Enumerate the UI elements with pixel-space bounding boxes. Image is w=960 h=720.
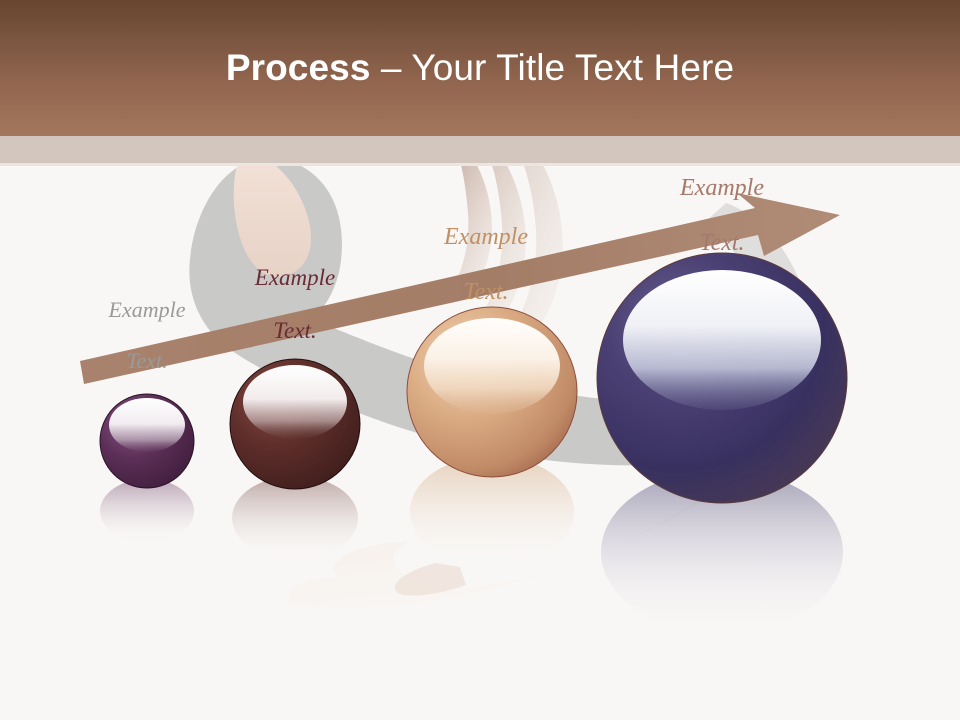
step-label-4-line2: Text. xyxy=(654,230,790,258)
sphere-4-highlight xyxy=(623,270,821,410)
page-title: Process – Your Title Text Here xyxy=(0,46,960,90)
sphere-1-reflection xyxy=(100,479,194,543)
title-banner-stripe-edge xyxy=(0,163,960,166)
step-label-2-line2: Text. xyxy=(232,318,358,345)
step-label-1: Example Text. xyxy=(88,271,206,399)
sphere-1-highlight xyxy=(109,398,185,452)
step-label-4-line1: Example xyxy=(654,175,790,203)
step-label-3-line2: Text. xyxy=(420,279,552,307)
step-label-1-line2: Text. xyxy=(88,348,206,374)
sphere-step-2[interactable] xyxy=(229,358,361,608)
sphere-2-highlight xyxy=(243,365,347,439)
sphere-step-3[interactable] xyxy=(406,306,578,616)
page-title-strong: Process xyxy=(226,47,371,88)
step-label-2-line1: Example xyxy=(232,265,358,292)
slide-canvas: Example Text. Example Text. Example Text… xyxy=(0,0,960,720)
title-banner-stripe xyxy=(0,136,960,163)
step-label-2: Example Text. xyxy=(232,238,358,371)
step-label-1-line1: Example xyxy=(88,297,206,323)
page-title-rest: Your Title Text Here xyxy=(411,47,734,88)
page-title-dash: – xyxy=(371,47,412,88)
step-label-4: Example Text. xyxy=(654,147,790,286)
step-label-3: Example Text. xyxy=(420,196,552,335)
sphere-step-1[interactable] xyxy=(99,393,195,593)
sphere-step-4[interactable] xyxy=(596,252,848,672)
step-label-3-line1: Example xyxy=(420,224,552,252)
